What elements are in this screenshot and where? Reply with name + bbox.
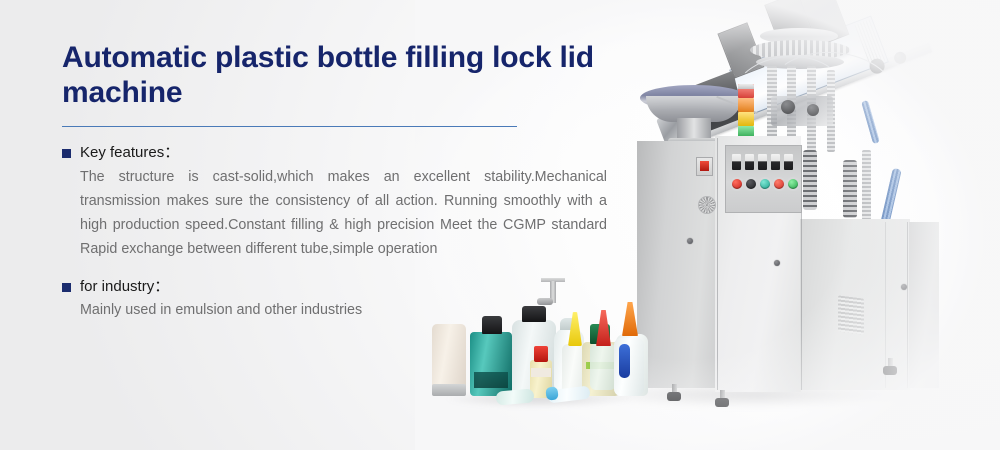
page-title: Automatic plastic bottle filling lock li…	[62, 40, 607, 110]
feature-heading: Key features：	[62, 143, 607, 163]
machine-cabinet-far-right	[909, 222, 939, 388]
control-panel[interactable]	[725, 145, 802, 213]
text-column: Automatic plastic bottle filling lock li…	[62, 40, 607, 322]
machine-cabinet-left	[637, 141, 717, 388]
cooling-fan-icon	[698, 196, 716, 214]
selector-switch[interactable]	[771, 154, 780, 170]
cabinet-seam	[717, 138, 718, 390]
push-button-green[interactable]	[788, 179, 798, 189]
signal-tower-cap	[738, 84, 754, 89]
push-button-black[interactable]	[746, 179, 756, 189]
push-button-red[interactable]	[732, 179, 742, 189]
feature-heading: for industry：	[62, 277, 607, 297]
cabinet-lock	[901, 284, 907, 290]
selector-switch[interactable]	[745, 154, 754, 170]
cabinet-lock	[774, 260, 780, 266]
signal-light-yellow	[738, 112, 754, 126]
lift-spring	[803, 150, 817, 210]
leveling-foot	[715, 390, 729, 406]
vent-louver	[838, 295, 864, 334]
push-button-teal[interactable]	[760, 179, 770, 189]
feature-block-industry: for industry： Mainly used in emulsion an…	[62, 277, 607, 322]
feature-block-key-features: Key features： The structure is cast-soli…	[62, 143, 607, 261]
feature-label: Key features：	[80, 143, 179, 163]
square-bullet-icon	[62, 283, 71, 292]
leveling-foot	[883, 358, 897, 374]
push-button-row[interactable]	[732, 179, 798, 189]
title-divider	[62, 126, 517, 127]
emergency-stop-switch[interactable]	[696, 157, 713, 176]
cabinet-lock	[687, 238, 693, 244]
push-button-red[interactable]	[774, 179, 784, 189]
product-banner: Automatic plastic bottle filling lock li…	[0, 0, 1000, 450]
signal-light-orange	[738, 98, 754, 112]
cabinet-seam	[907, 222, 908, 388]
selector-switch[interactable]	[758, 154, 767, 170]
lift-spring	[843, 160, 857, 218]
feature-label: for industry：	[80, 277, 169, 297]
selector-switch[interactable]	[732, 154, 741, 170]
selector-switch[interactable]	[784, 154, 793, 170]
square-bullet-icon	[62, 149, 71, 158]
guide-rod	[862, 150, 871, 220]
feature-paragraph: The structure is cast-solid,which makes …	[80, 165, 607, 261]
feature-paragraph: Mainly used in emulsion and other indust…	[80, 298, 607, 322]
leveling-foot	[667, 384, 681, 400]
selector-switch-row[interactable]	[732, 154, 793, 170]
